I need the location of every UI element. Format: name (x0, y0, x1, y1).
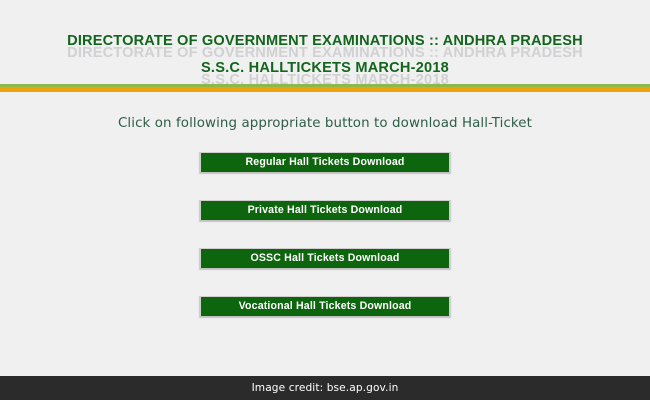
divider-orange-bar (0, 87, 650, 92)
hall-ticket-page: DIRECTORATE OF GOVERNMENT EXAMINATIONS :… (0, 0, 650, 400)
page-header: DIRECTORATE OF GOVERNMENT EXAMINATIONS :… (0, 28, 650, 82)
instruction-text: Click on following appropriate button to… (0, 116, 650, 131)
page-title-line-2: S.S.C. HALLTICKETS MARCH-2018 (0, 55, 650, 82)
button-row-private: Private Hall Tickets Download (0, 200, 650, 248)
button-row-ossc: OSSC Hall Tickets Download (0, 248, 650, 296)
regular-hall-tickets-download-button[interactable]: Regular Hall Tickets Download (199, 152, 451, 173)
button-row-regular: Regular Hall Tickets Download (0, 152, 650, 200)
image-credit-bar: Image credit: bse.ap.gov.in (0, 376, 650, 400)
button-row-vocational: Vocational Hall Tickets Download (0, 296, 650, 344)
page-title-line-1: DIRECTORATE OF GOVERNMENT EXAMINATIONS :… (0, 28, 650, 55)
private-hall-tickets-download-button[interactable]: Private Hall Tickets Download (199, 200, 451, 221)
ossc-hall-tickets-download-button[interactable]: OSSC Hall Tickets Download (199, 248, 451, 269)
download-buttons-area: Regular Hall Tickets Download Private Ha… (0, 152, 650, 344)
vocational-hall-tickets-download-button[interactable]: Vocational Hall Tickets Download (199, 296, 451, 317)
